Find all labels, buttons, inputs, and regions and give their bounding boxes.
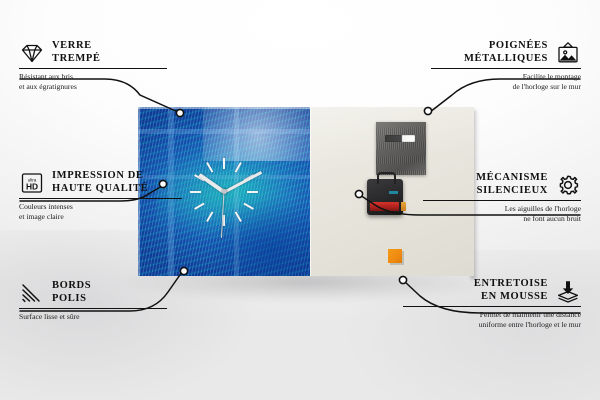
callout-title: POIGNÉES MÉTALLIQUES — [464, 40, 548, 65]
callout-divider — [431, 68, 581, 69]
infographic-canvas: VERRE TREMPÉ Résistant aux bris et aux é… — [0, 0, 600, 400]
callout-title-line1: MÉCANISME — [476, 172, 548, 185]
callout-desc-line2: de l'horloge sur le mur — [429, 82, 581, 92]
callout-desc-line1: Couleurs intenses — [19, 202, 184, 212]
callout-title-line2: MÉTALLIQUES — [464, 53, 548, 66]
callout-impression-haute-qualite: ultra HD IMPRESSION DE HAUTE QUALITÉ Cou… — [19, 170, 184, 221]
callout-poignees-metalliques: POIGNÉES MÉTALLIQUES Facilite le montage… — [429, 40, 581, 91]
callout-title-line1: IMPRESSION DE — [52, 170, 148, 183]
hanging-frame-icon — [555, 41, 581, 65]
callout-desc-line2: uniforme entre l'horloge et le mur — [401, 320, 581, 330]
callout-desc-line2: et image claire — [19, 212, 184, 222]
movement-contact — [389, 191, 398, 194]
callout-divider — [403, 306, 581, 307]
foam-spacer-icon — [555, 279, 581, 303]
callout-title-line1: ENTRETOISE — [474, 278, 548, 291]
callout-divider — [19, 68, 167, 69]
callout-title-line2: TREMPÉ — [52, 53, 101, 66]
callout-bords-polis: BORDS POLIS Surface lisse et sûre — [19, 280, 169, 322]
clock-movement — [367, 179, 403, 215]
callout-header: MÉCANISME SILENCIEUX — [421, 172, 581, 197]
callout-title-line2: POLIS — [52, 293, 91, 306]
callout-header: ultra HD IMPRESSION DE HAUTE QUALITÉ — [19, 170, 184, 195]
clock-center-hub — [222, 189, 227, 194]
callout-desc-line1: Facilite le montage — [429, 72, 581, 82]
callout-title: ENTRETOISE EN MOUSSE — [474, 278, 548, 303]
callout-header: VERRE TREMPÉ — [19, 40, 169, 65]
hanger-slot — [385, 135, 415, 142]
callout-title-line2: HAUTE QUALITÉ — [52, 183, 148, 196]
callout-title-line1: POIGNÉES — [464, 40, 548, 53]
polished-edge-top — [138, 107, 310, 109]
diamond-icon — [19, 41, 45, 65]
ultra-hd-icon: ultra HD — [19, 171, 45, 195]
callout-title: VERRE TREMPÉ — [52, 40, 101, 65]
polished-edges-icon — [19, 281, 45, 305]
svg-text:HD: HD — [26, 181, 38, 191]
callout-desc-line1: Surface lisse et sûre — [19, 312, 169, 322]
callout-header: POIGNÉES MÉTALLIQUES — [429, 40, 581, 65]
callout-divider — [19, 198, 182, 199]
hanger-plate — [376, 122, 426, 175]
callout-desc-line2: et aux égratignures — [19, 82, 169, 92]
callout-title-line1: VERRE — [52, 40, 101, 53]
callout-title-line2: SILENCIEUX — [476, 185, 548, 198]
callout-divider — [19, 308, 167, 309]
callout-title: BORDS POLIS — [52, 280, 91, 305]
callout-title: MÉCANISME SILENCIEUX — [476, 172, 548, 197]
callout-desc-line2: ne font aucun bruit — [421, 214, 581, 224]
movement-hook — [377, 172, 396, 184]
callout-title-line1: BORDS — [52, 280, 91, 293]
battery — [370, 202, 399, 211]
callout-title: IMPRESSION DE HAUTE QUALITÉ — [52, 170, 148, 195]
callout-desc-line1: Permet de maintenir une distance — [401, 310, 581, 320]
gear-icon — [555, 173, 581, 197]
callout-header: ENTRETOISE EN MOUSSE — [401, 278, 581, 303]
callout-desc-line1: Les aiguilles de l'horloge — [421, 204, 581, 214]
callout-entretoise-en-mousse: ENTRETOISE EN MOUSSE Permet de maintenir… — [401, 278, 581, 329]
callout-divider — [423, 200, 581, 201]
battery-terminal — [401, 202, 406, 211]
callout-title-line2: EN MOUSSE — [474, 291, 548, 304]
glass-highlight — [203, 107, 310, 161]
callout-verre-trempe: VERRE TREMPÉ Résistant aux bris et aux é… — [19, 40, 169, 91]
callout-desc-line1: Résistant aux bris — [19, 72, 169, 82]
foam-spacer — [388, 249, 402, 263]
callout-header: BORDS POLIS — [19, 280, 169, 305]
callout-mecanisme-silencieux: MÉCANISME SILENCIEUX Les aiguilles de l'… — [421, 172, 581, 223]
